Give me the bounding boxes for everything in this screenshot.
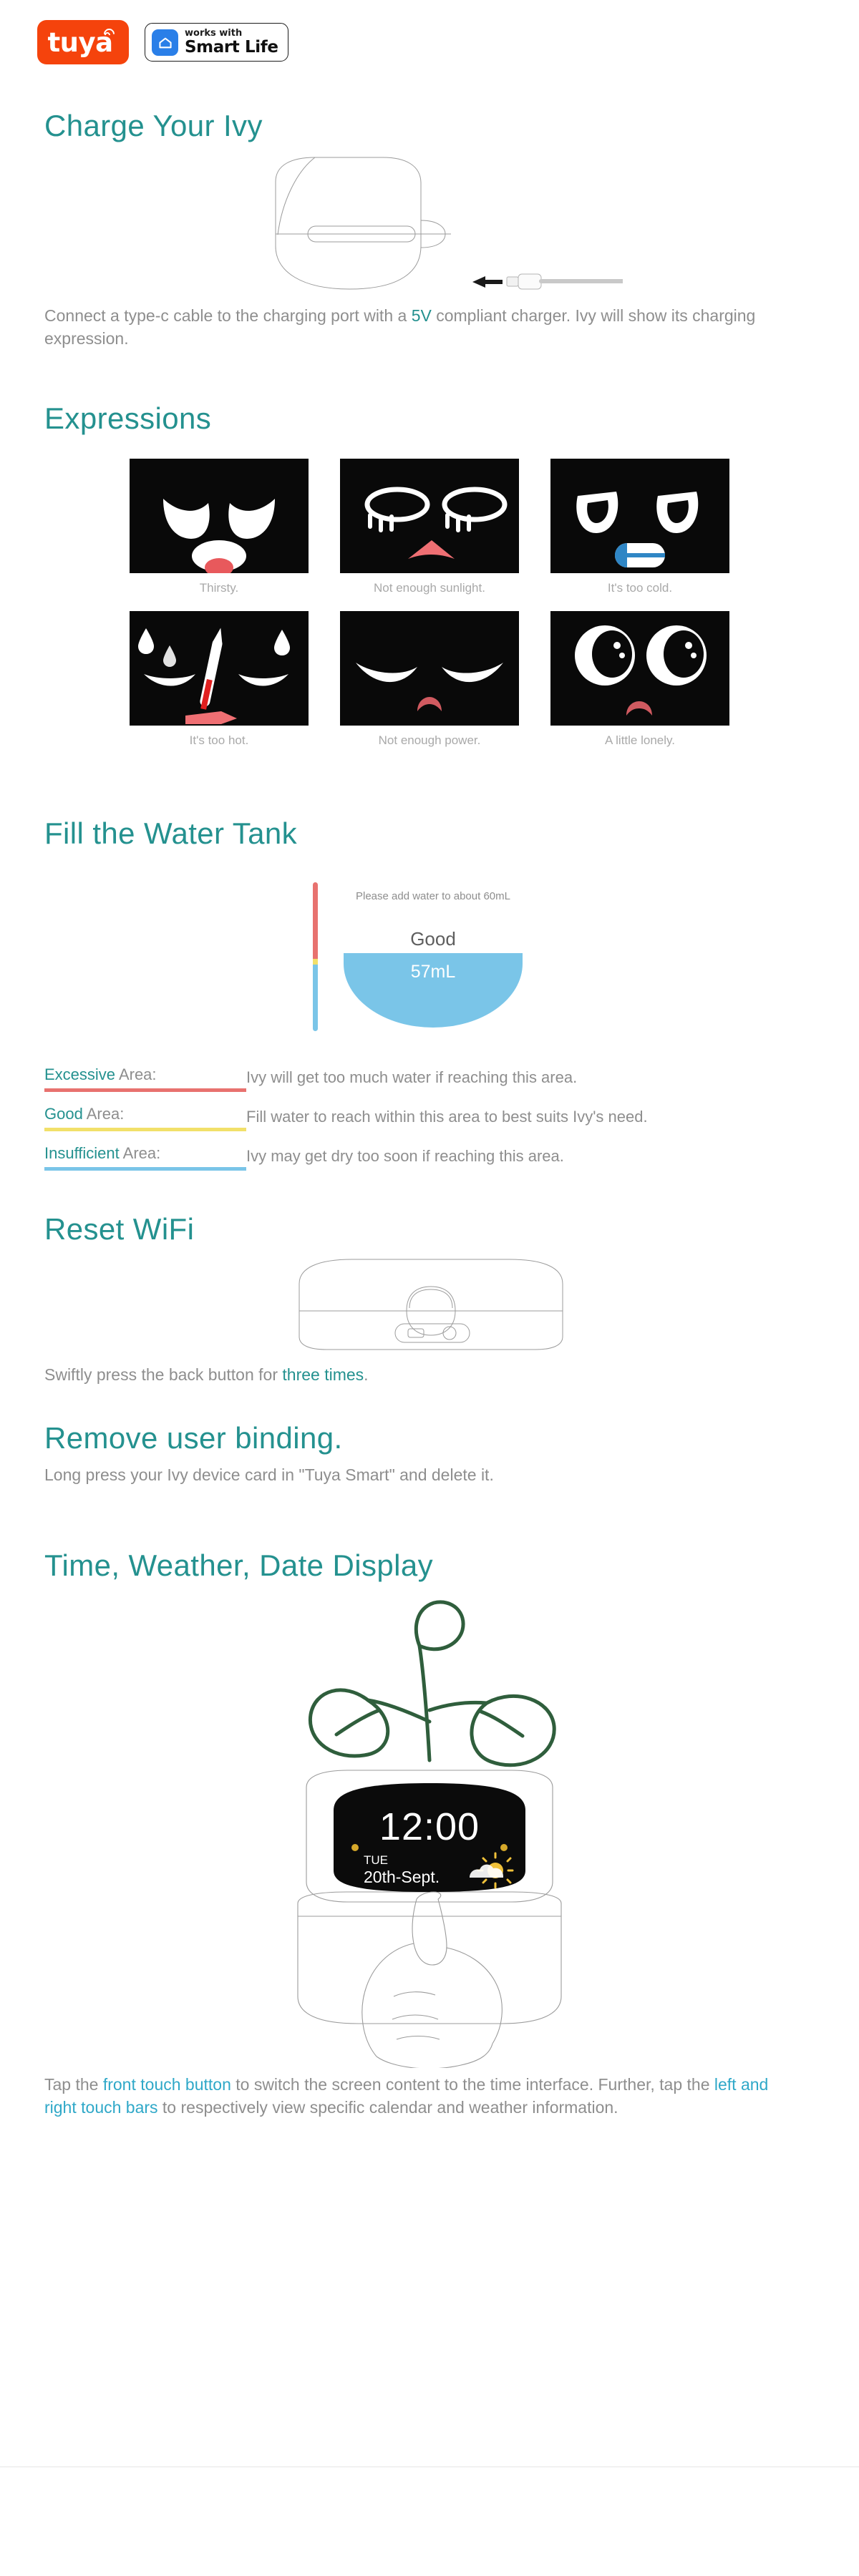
insert-direction-arrow — [472, 276, 503, 288]
expression-caption: It's too hot. — [130, 726, 309, 748]
expression-item: Thirsty. — [130, 459, 309, 595]
legend-row: Insufficient Area: Ivy may get dry too s… — [44, 1144, 809, 1171]
too-hot-face-glyph — [130, 611, 309, 726]
legend-label-good: Good Area: — [44, 1105, 246, 1131]
ivy-clock-drawing — [215, 1596, 644, 2068]
house-glyph — [158, 37, 172, 49]
time-display-caption: Tap the front touch button to switch the… — [0, 2074, 859, 2119]
face-too-cold-icon — [550, 459, 729, 573]
legend-key: Insufficient — [44, 1144, 120, 1162]
footer-divider — [0, 2467, 859, 2467]
smart-life-label: Smart Life — [185, 39, 278, 56]
wifi-caption-part1: Swiftly press the back button for — [44, 1365, 282, 1384]
water-fill-body: 57mL — [344, 953, 523, 1028]
reset-wifi-caption: Swiftly press the back button for three … — [0, 1364, 859, 1387]
water-tank-illustration: Please add water to about 60mL Good 57mL — [0, 872, 859, 1037]
smart-life-house-icon — [152, 29, 178, 56]
wifi-signal-icon — [105, 28, 117, 39]
charge-voltage-accent: 5V — [412, 306, 432, 325]
remove-binding-heading: Remove user binding. — [0, 1421, 859, 1455]
face-too-hot-icon — [130, 611, 309, 726]
water-tank-heading: Fill the Water Tank — [0, 816, 859, 851]
expression-item: It's too hot. — [130, 611, 309, 748]
charge-caption: Connect a type-c cable to the charging p… — [0, 305, 859, 350]
time-caption-part2: to switch the screen content to the time… — [231, 2075, 714, 2094]
reset-wifi-heading: Reset WiFi — [0, 1212, 859, 1246]
legend-description: Ivy may get dry too soon if reaching thi… — [246, 1144, 564, 1167]
time-caption-part3: to respectively view specific calendar a… — [158, 2098, 618, 2117]
expression-item: It's too cold. — [550, 459, 729, 595]
scale-segment-good — [313, 959, 318, 965]
expressions-grid-row2: It's too hot. Not enough power. — [0, 611, 859, 748]
expression-item: Not enough sunlight. — [340, 459, 519, 595]
wifi-caption-accent: three times — [282, 1365, 364, 1384]
wifi-caption-part2: . — [364, 1365, 368, 1384]
charge-caption-part1: Connect a type-c cable to the charging p… — [44, 306, 412, 325]
water-tank-legend: Excessive Area: Ivy will get too much wa… — [0, 1065, 859, 1171]
legend-key: Excessive — [44, 1065, 115, 1083]
legend-description: Ivy will get too much water if reaching … — [246, 1065, 577, 1088]
works-with-smart-life-badge: works with Smart Life — [145, 23, 288, 62]
legend-key: Good — [44, 1105, 83, 1123]
expressions-heading: Expressions — [0, 401, 859, 436]
legend-description: Fill water to reach within this area to … — [246, 1105, 648, 1128]
tuya-logo: tuya — [37, 20, 129, 64]
thirsty-face-glyph — [130, 459, 309, 573]
works-with-label: works with — [185, 29, 278, 39]
legend-label-excessive: Excessive Area: — [44, 1065, 246, 1092]
brand-bar: tuya works with Smart Life — [0, 0, 859, 64]
legend-row: Excessive Area: Ivy will get too much wa… — [44, 1065, 809, 1092]
device-charging-drawing — [236, 152, 623, 295]
expression-caption: Not enough sunlight. — [340, 573, 519, 595]
expression-caption: A little lonely. — [550, 726, 729, 748]
front-touch-button-link: front touch button — [103, 2075, 231, 2094]
face-low-power-icon — [340, 611, 519, 726]
face-thirsty-icon — [130, 459, 309, 573]
legend-row: Good Area: Fill water to reach within th… — [44, 1105, 809, 1131]
reset-wifi-illustration — [0, 1252, 859, 1352]
water-volume-value: 57mL — [411, 962, 456, 982]
water-tank-status: Good — [344, 928, 523, 950]
legend-label-insufficient: Insufficient Area: — [44, 1144, 246, 1171]
face-no-sunlight-icon — [340, 459, 519, 573]
charge-heading: Charge Your Ivy — [0, 109, 859, 143]
legend-suffix: Area: — [115, 1065, 156, 1083]
works-with-text: works with Smart Life — [185, 29, 278, 56]
time-display-heading: Time, Weather, Date Display — [0, 1548, 859, 1583]
expression-caption: Not enough power. — [340, 726, 519, 748]
expression-item: Not enough power. — [340, 611, 519, 748]
scale-segment-insufficient — [313, 965, 318, 1032]
time-caption-part1: Tap the — [44, 2075, 103, 2094]
water-level-scale — [313, 882, 318, 1031]
lonely-face-glyph — [550, 611, 729, 726]
face-lonely-icon — [550, 611, 729, 726]
remove-binding-caption: Long press your Ivy device card in "Tuya… — [0, 1464, 859, 1487]
scale-segment-excessive — [313, 882, 318, 958]
expression-caption: It's too cold. — [550, 573, 729, 595]
too-cold-face-glyph — [550, 459, 729, 573]
expression-caption: Thirsty. — [130, 573, 309, 595]
no-sunlight-face-glyph — [340, 459, 519, 573]
expression-item: A little lonely. — [550, 611, 729, 748]
charging-illustration — [0, 152, 859, 295]
legend-suffix: Area: — [83, 1105, 124, 1123]
legend-suffix: Area: — [120, 1144, 160, 1162]
device-back-drawing — [281, 1252, 581, 1352]
time-display-illustration: 12:00 TUE 20th-Sept. — [0, 1596, 859, 2068]
expressions-grid-row1: Thirsty. Not enough sunlight. — [0, 459, 859, 595]
low-power-face-glyph — [340, 611, 519, 726]
water-tank-hint: Please add water to about 60mL — [344, 889, 523, 904]
